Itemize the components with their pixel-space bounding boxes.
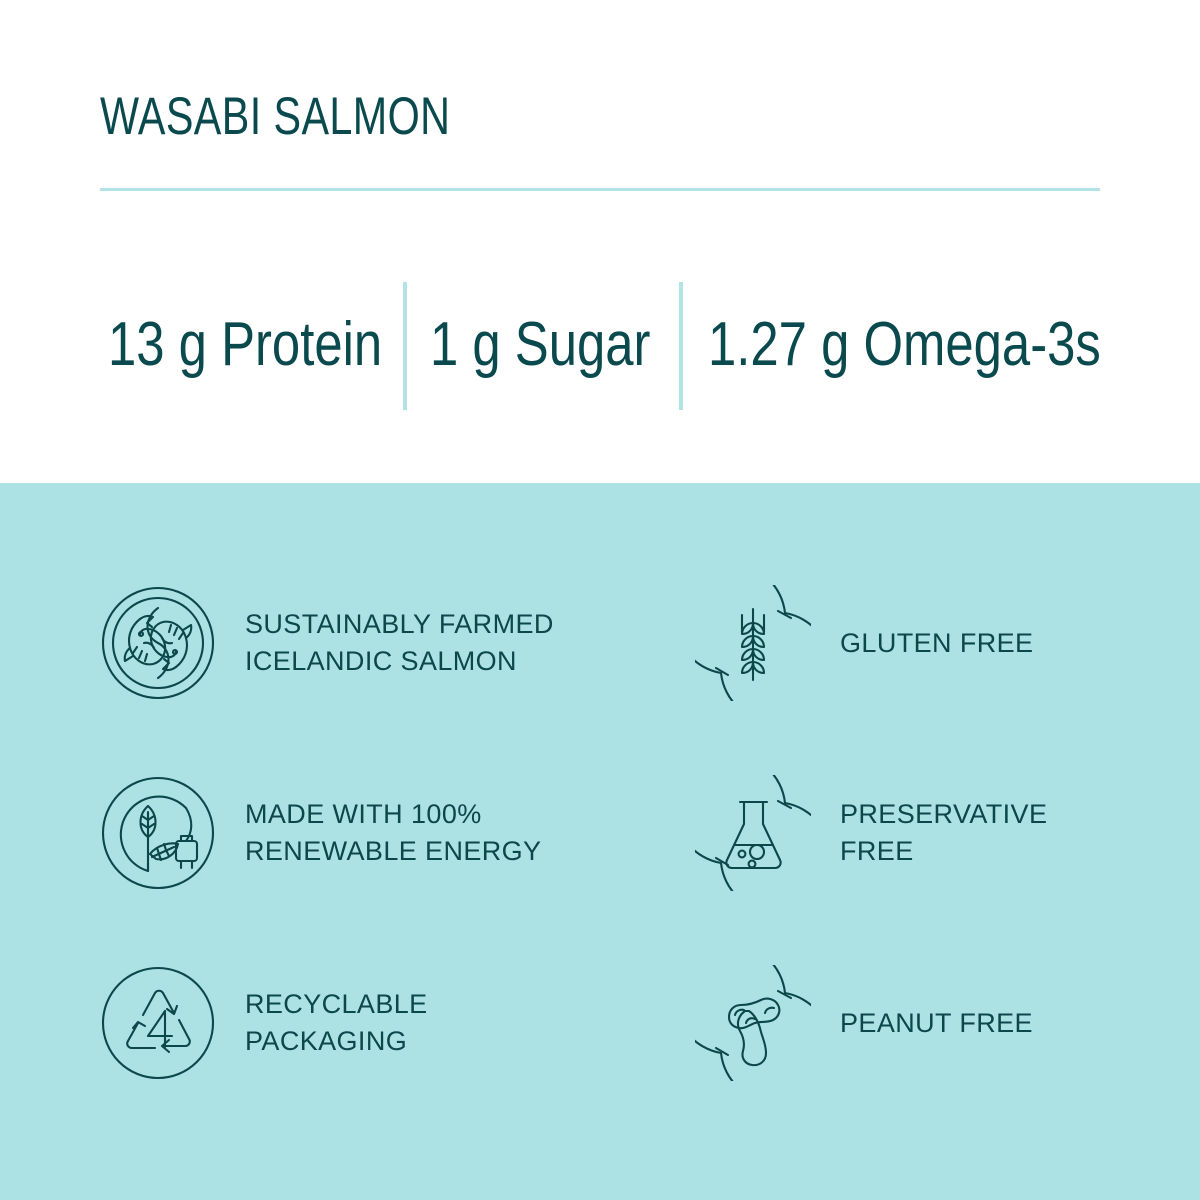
wheat-stalk-no-symbol-icon <box>695 585 811 701</box>
nutrition-stat-sugar: 1 g Sugar <box>430 280 699 410</box>
stat-divider-1 <box>403 282 407 410</box>
flask-no-symbol-icon <box>695 775 811 891</box>
badge-label-gluten-free: GLUTEN FREE <box>840 625 1033 662</box>
badge-recyclable-packaging: RECYCLABLE PACKAGING <box>100 965 428 1081</box>
nutrition-stat-omega3: 1.27 g Omega-3s <box>708 280 1187 410</box>
nutrition-stat-protein: 13 g Protein <box>108 280 442 410</box>
badge-renewable-energy: MADE WITH 100% RENEWABLE ENERGY <box>100 775 541 891</box>
page-title: WASABI SALMON <box>100 88 450 146</box>
title-divider-rule <box>100 188 1100 191</box>
nutrition-stat-protein-text: 13 g Protein <box>108 312 382 378</box>
nutrition-stat-sugar-text: 1 g Sugar <box>430 312 650 378</box>
badge-peanut-free: PEANUT FREE <box>695 965 1033 1081</box>
peanut-no-symbol-icon <box>695 965 811 1081</box>
stat-divider-2 <box>679 282 683 410</box>
badge-label-preservative-free: PRESERVATIVE FREE <box>840 796 1047 870</box>
badge-label-renewable-energy: MADE WITH 100% RENEWABLE ENERGY <box>245 796 541 870</box>
badge-label-peanut-free: PEANUT FREE <box>840 1005 1033 1042</box>
badge-label-recyclable-packaging: RECYCLABLE PACKAGING <box>245 986 428 1060</box>
nutrition-stat-omega3-text: 1.27 g Omega-3s <box>708 312 1101 378</box>
recycle-triangle-4-icon <box>100 965 216 1081</box>
nutrition-stats-row: 13 g Protein 1 g Sugar 1.27 g Omega-3s <box>100 280 1110 410</box>
two-fish-circle-icon <box>100 585 216 701</box>
product-badges-panel: SUSTAINABLY FARMED ICELANDIC SALMON <box>0 483 1200 1200</box>
leaf-plug-circle-icon <box>100 775 216 891</box>
badge-label-sustainably-farmed: SUSTAINABLY FARMED ICELANDIC SALMON <box>245 606 554 680</box>
badge-sustainably-farmed: SUSTAINABLY FARMED ICELANDIC SALMON <box>100 585 554 701</box>
badge-gluten-free: GLUTEN FREE <box>695 585 1033 701</box>
badge-preservative-free: PRESERVATIVE FREE <box>695 775 1047 891</box>
product-header-panel: WASABI SALMON 13 g Protein 1 g Sugar 1.2… <box>0 0 1200 483</box>
